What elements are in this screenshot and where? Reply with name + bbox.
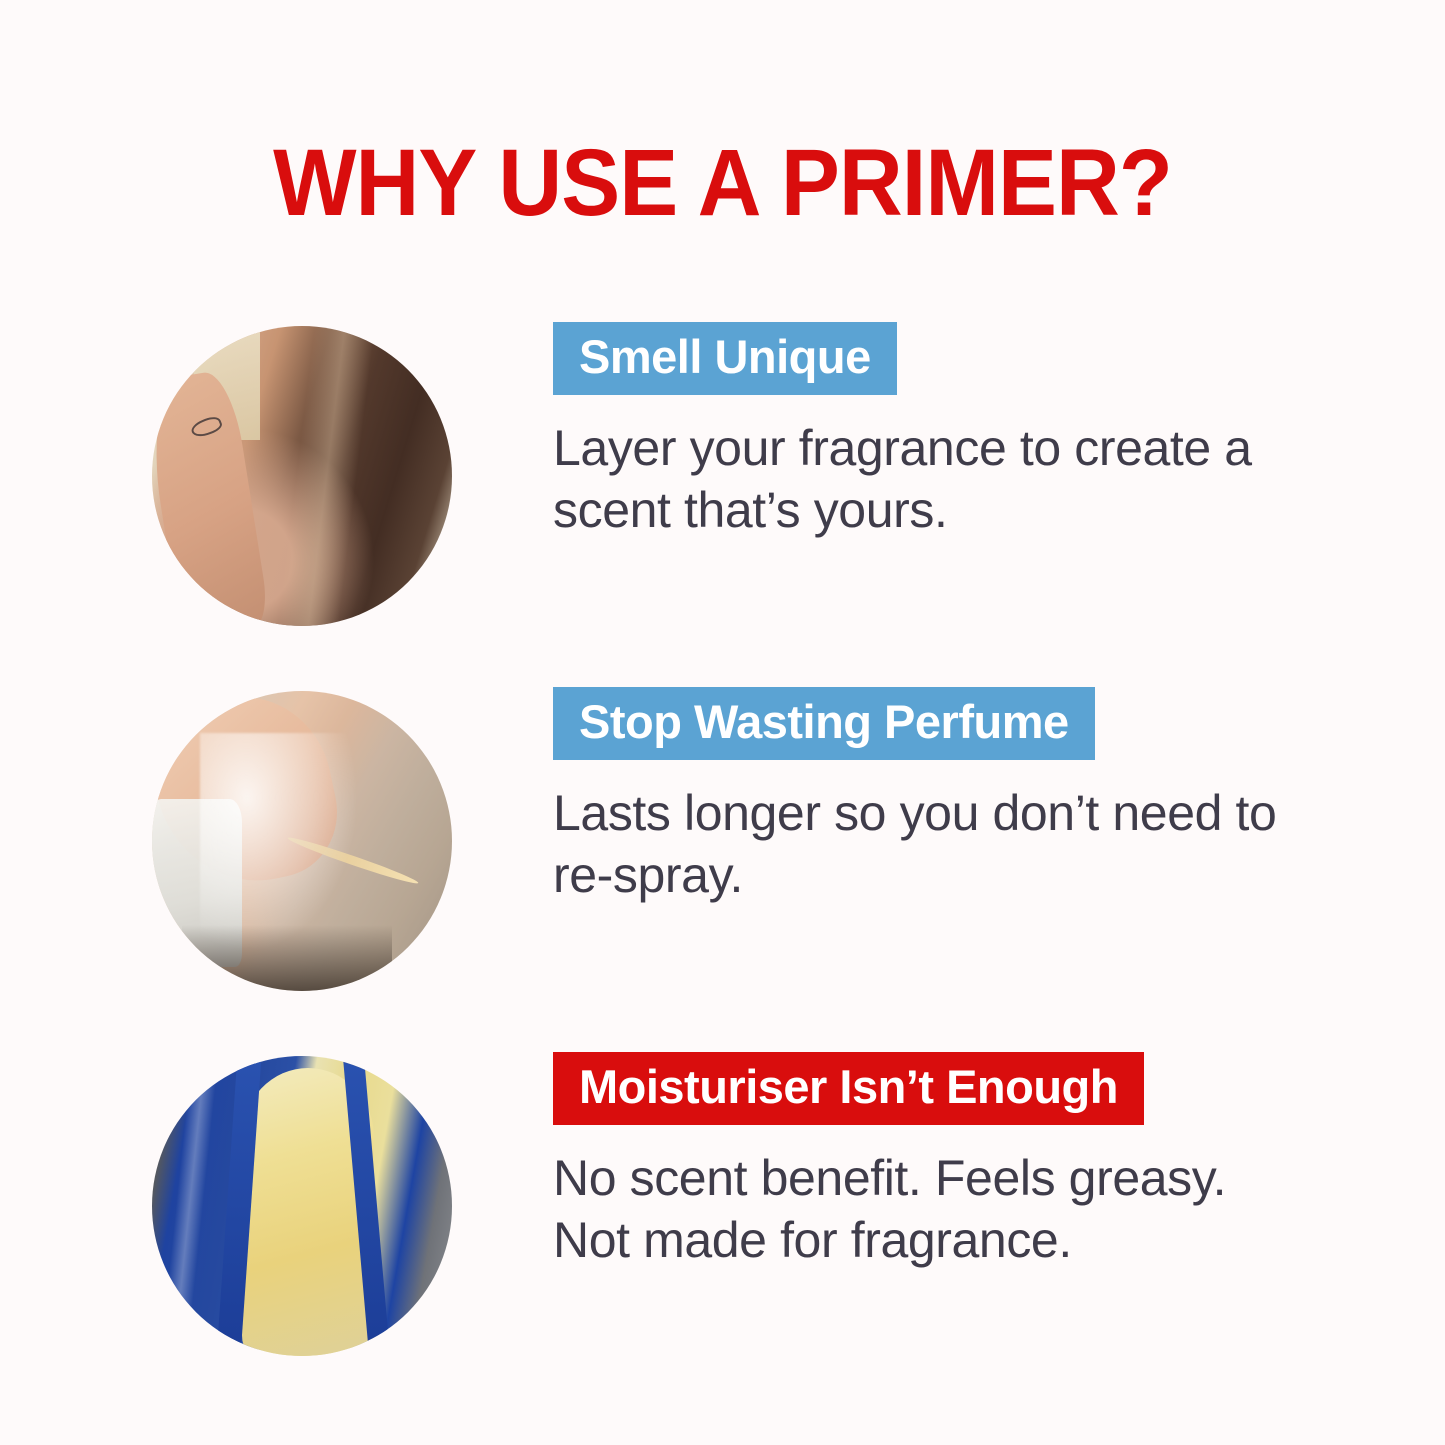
benefit-heading-banner: Moisturiser Isn’t Enough (553, 1052, 1144, 1125)
petroleum-jelly-tub-photo (152, 1056, 452, 1356)
benefit-row: Moisturiser Isn’t Enough No scent benefi… (0, 1052, 1445, 1362)
benefit-image-stop-wasting-perfume (152, 691, 452, 991)
spraying-perfume-on-wrist-photo (152, 691, 452, 991)
benefit-heading-banner: Smell Unique (553, 322, 897, 395)
benefit-heading-banner: Stop Wasting Perfume (553, 687, 1095, 760)
benefit-row: Smell Unique Layer your fragrance to cre… (0, 322, 1445, 632)
photo-detail-hair-sheen (275, 326, 377, 626)
benefit-image-moisturiser (152, 1056, 452, 1356)
benefit-content: Smell Unique Layer your fragrance to cre… (553, 322, 1383, 541)
benefit-body-text: Lasts longer so you don’t need to re-spr… (553, 782, 1313, 906)
benefit-content: Moisturiser Isn’t Enough No scent benefi… (553, 1052, 1383, 1271)
page-title: WHY USE A PRIMER? (51, 133, 1395, 233)
infographic-page: WHY USE A PRIMER? Smell Unique Layer you… (0, 0, 1445, 1445)
photo-detail-gloss (160, 1056, 218, 1356)
photo-detail-spray-mist (200, 733, 356, 949)
benefit-content: Stop Wasting Perfume Lasts longer so you… (553, 687, 1383, 906)
photo-detail-shadow (182, 925, 392, 991)
benefit-image-smell-unique (152, 326, 452, 626)
benefit-body-text: No scent benefit. Feels greasy. Not made… (553, 1147, 1313, 1271)
benefit-row: Stop Wasting Perfume Lasts longer so you… (0, 687, 1445, 997)
woman-smelling-wrist-photo (152, 326, 452, 626)
benefit-body-text: Layer your fragrance to create a scent t… (553, 417, 1313, 541)
